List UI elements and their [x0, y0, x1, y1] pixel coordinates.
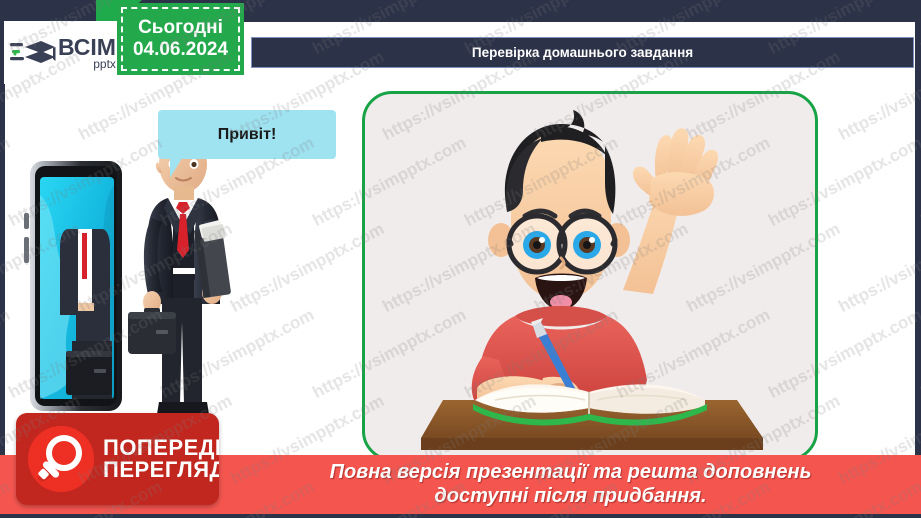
slide-frame-bottom	[0, 514, 921, 518]
graduation-cap-icon	[10, 33, 56, 73]
presentation-slide: ВСІМ pptx Сьогодні 04.06.2024 Перевірка …	[0, 0, 921, 518]
slide-title: Перевірка домашнього завдання	[472, 45, 693, 60]
speech-bubble-tail	[170, 158, 182, 178]
main-illustration-card	[362, 91, 818, 461]
brand-logo: ВСІМ pptx	[4, 21, 130, 84]
speech-bubble: Привіт!	[158, 110, 336, 159]
logo-title: ВСІМ	[58, 36, 116, 59]
preview-button[interactable]: ПОПЕРЕДНІЙ ПЕРЕГЛЯД	[16, 413, 219, 505]
today-date: 04.06.2024	[133, 39, 228, 61]
today-label: Сьогодні	[138, 17, 223, 39]
slide-frame-right	[915, 0, 921, 518]
today-date-badge: Сьогодні 04.06.2024	[117, 3, 244, 75]
watermark-text: https://vsimpptx.com	[835, 219, 921, 317]
preview-button-line1: ПОПЕРЕДНІЙ	[103, 437, 219, 459]
smartphone-illustration	[16, 155, 128, 417]
magnifier-icon	[28, 426, 94, 492]
speech-bubble-text: Привіт!	[218, 126, 277, 144]
slide-title-bar: Перевірка домашнього завдання	[251, 37, 914, 68]
preview-button-line2: ПЕРЕГЛЯД	[103, 459, 219, 481]
businessman-illustration	[126, 122, 256, 422]
purchase-notice-line2: доступні після придбання.	[214, 485, 706, 509]
